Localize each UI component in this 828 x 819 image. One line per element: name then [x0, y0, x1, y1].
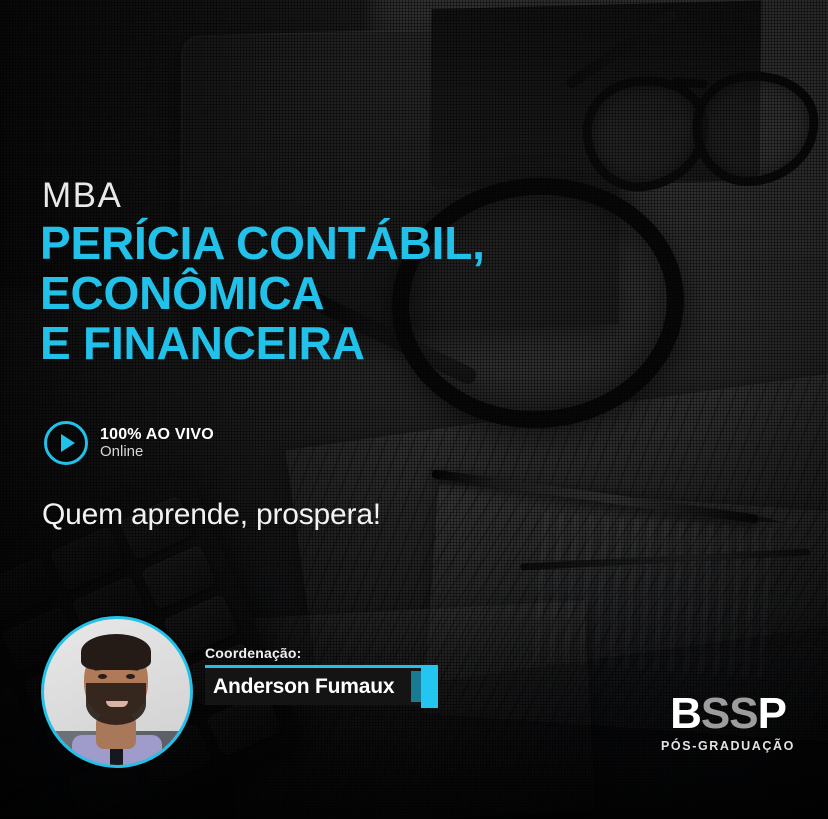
- live-badge-subtitle: Online: [100, 444, 214, 460]
- logo-letters-ss: SS: [701, 689, 758, 738]
- coordinator-portrait: [44, 619, 190, 765]
- coordinator-label: Coordenação:: [205, 645, 438, 665]
- live-badge-title: 100% AO VIVO: [100, 426, 214, 443]
- bar-accent-dark: [411, 671, 421, 702]
- promo-poster: MBA PERÍCIA CONTÁBIL, ECONÔMICA E FINANC…: [0, 0, 828, 819]
- title-line-3: E FINANCEIRA: [40, 318, 600, 368]
- tagline: Quem aprende, prospera!: [42, 498, 381, 532]
- title-line-2: ECONÔMICA: [40, 268, 600, 318]
- avatar: [41, 616, 193, 768]
- coordinator-name-bar: Anderson Fumaux: [205, 665, 438, 705]
- live-badge: 100% AO VIVO Online: [44, 421, 214, 465]
- bar-accent-bright: [421, 665, 438, 708]
- coordinator-block: Coordenação: Anderson Fumaux: [205, 645, 438, 705]
- logo-letter-p: P: [758, 689, 786, 738]
- coordinator-name: Anderson Fumaux: [205, 675, 394, 699]
- course-type-label: MBA: [42, 178, 122, 213]
- title-line-1: PERÍCIA CONTÁBIL,: [40, 218, 600, 268]
- logo-subtitle: PÓS-GRADUAÇÃO: [661, 739, 795, 753]
- poster-content: MBA PERÍCIA CONTÁBIL, ECONÔMICA E FINANC…: [0, 0, 828, 819]
- live-badge-text: 100% AO VIVO Online: [100, 426, 214, 459]
- play-circle-icon: [44, 421, 88, 465]
- logo-wordmark: BSSP: [661, 692, 795, 736]
- bssp-logo: BSSP PÓS-GRADUAÇÃO: [661, 692, 795, 753]
- page-title: PERÍCIA CONTÁBIL, ECONÔMICA E FINANCEIRA: [40, 218, 600, 368]
- logo-letter-b: B: [670, 689, 701, 738]
- play-triangle-icon: [61, 434, 75, 452]
